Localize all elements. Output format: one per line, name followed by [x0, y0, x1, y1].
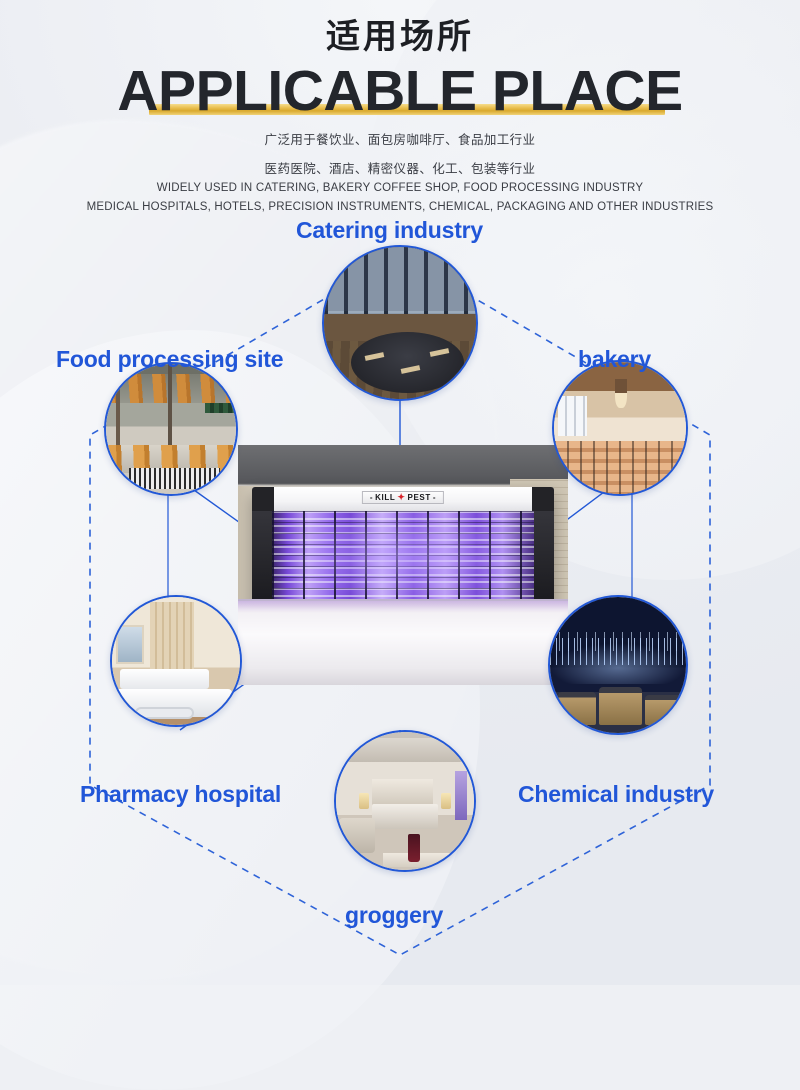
hotel-bed [372, 804, 438, 829]
storage-tank [645, 695, 680, 725]
ceiling-cove [347, 738, 463, 763]
insect-killer-unit: - KILL ✦ PEST - [252, 487, 554, 615]
brand-text-pest: PEST [408, 493, 431, 502]
wine-bottle-icon [408, 834, 420, 862]
machine-frame [116, 369, 120, 450]
applications-hexagon-diagram: - KILL ✦ PEST - [0, 225, 800, 985]
brand-text-kill: KILL [375, 493, 395, 502]
subtitle-chinese-line-2: 医药医院、酒店、精密仪器、化工、包装等行业 [0, 159, 800, 178]
label-groggery: groggery [345, 902, 443, 929]
restaurant-round-table [351, 332, 463, 393]
header-block: 适用场所 APPLICABLE PLACE 广泛用于餐饮业、面包房咖啡厅、食品加… [0, 0, 800, 216]
armchair [339, 818, 375, 854]
scene-image-catering [324, 247, 476, 399]
subtitle-chinese-line-1: 广泛用于餐饮业、面包房咖啡厅、食品加工行业 [0, 130, 800, 149]
storage-tank [558, 692, 596, 725]
bedside-lamp [441, 793, 451, 810]
napkin [400, 365, 420, 374]
page-title: APPLICABLE PLACE [117, 63, 682, 120]
scene-image-hotel [336, 732, 474, 870]
brand-dash-left: - [370, 493, 373, 502]
scene-image-food-processing [106, 364, 236, 494]
refinery-lights-glow [550, 643, 686, 684]
english-title-wrap: APPLICABLE PLACE [117, 63, 682, 120]
hospital-window [116, 625, 144, 663]
label-pharmacy-hospital: Pharmacy hospital [80, 781, 281, 808]
wall-panel [150, 602, 194, 676]
unit-side-left [252, 511, 272, 605]
label-food-processing-site: Food processing site [56, 346, 283, 373]
brand-dash-right: - [433, 493, 436, 502]
scene-catering[interactable] [322, 245, 478, 401]
product-image-insect-killer: - KILL ✦ PEST - [238, 445, 568, 685]
chinese-title: 适用场所 [0, 0, 800, 54]
label-catering-industry: Catering industry [296, 217, 483, 244]
napkin [430, 348, 450, 357]
scene-hotel[interactable] [334, 730, 476, 872]
bakery-window [558, 396, 587, 436]
napkin [364, 352, 384, 361]
scene-image-chemical [550, 597, 686, 733]
scene-chemical[interactable] [548, 595, 688, 735]
bed-headboard [372, 779, 433, 807]
grid-vertical [272, 511, 534, 599]
brand-plate: - KILL ✦ PEST - [362, 491, 444, 504]
storage-tank [599, 687, 643, 725]
product-counter-surface [238, 599, 568, 685]
subtitle-english-line-2: MEDICAL HOSPITALS, HOTELS, PRECISION INS… [0, 199, 800, 216]
bed-rail [135, 707, 194, 719]
scene-bakery[interactable] [552, 360, 688, 496]
pendant-light-icon [615, 379, 627, 408]
bread-trays [554, 441, 686, 494]
purple-accent-panel [455, 771, 467, 821]
scene-image-bakery [554, 362, 686, 494]
scene-image-hospital [112, 597, 240, 725]
scene-food-processing[interactable] [104, 362, 238, 496]
bug-icon: ✦ [397, 493, 405, 502]
uv-lamp-grid-area [272, 511, 534, 599]
subtitle-english-line-1: WIDELY USED IN CATERING, BAKERY COFFEE S… [0, 180, 800, 197]
hospital-bed [120, 669, 210, 689]
label-bakery: bakery [578, 346, 651, 373]
scene-hospital[interactable] [110, 595, 242, 727]
unit-side-right [534, 511, 554, 605]
machine-frame [168, 364, 172, 450]
bedside-lamp [359, 793, 369, 810]
wire-mesh-rack [129, 468, 220, 489]
label-chemical-industry: Chemical industry [518, 781, 714, 808]
